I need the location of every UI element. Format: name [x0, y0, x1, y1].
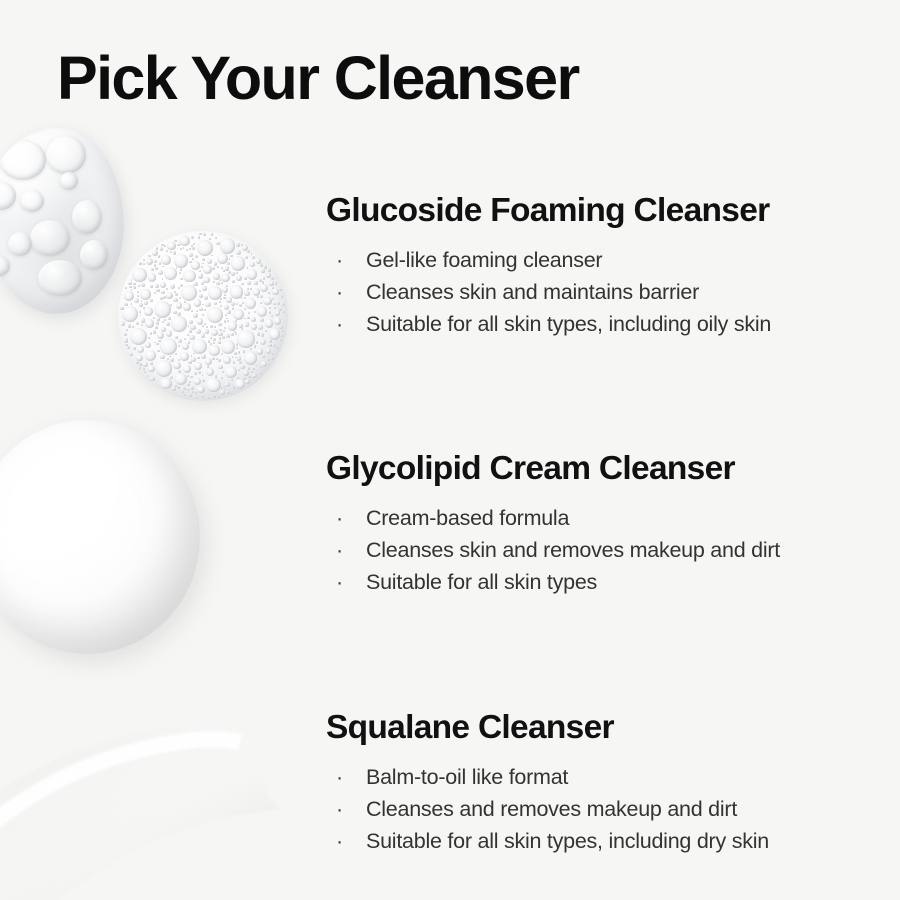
- foam-bubble-icon: [236, 275, 243, 282]
- foam-bubble-icon: [160, 355, 165, 360]
- foam-bubble-icon: [199, 233, 201, 235]
- gel-bubble-icon: [80, 240, 108, 270]
- foam-bubble-icon: [242, 245, 248, 251]
- foam-bubble-icon: [261, 333, 264, 336]
- foam-bubble-icon: [188, 341, 190, 343]
- foam-bubble-icon: [173, 362, 181, 370]
- foam-bubble-icon: [139, 367, 141, 369]
- foam-bubble-icon: [210, 325, 213, 328]
- list-item: · Cream-based formula: [332, 502, 871, 534]
- foam-bubble-icon: [193, 243, 195, 245]
- foam-bubble-icon: [251, 253, 253, 255]
- foam-bubble-icon: [216, 282, 220, 286]
- section-heading: Glycolipid Cream Cleanser: [326, 450, 871, 488]
- foam-bubble-icon: [182, 343, 190, 351]
- foam-bubble-icon: [212, 267, 215, 270]
- foam-bubble-icon: [241, 297, 243, 299]
- foam-bubble-icon: [218, 332, 222, 336]
- foam-bubble-icon: [141, 300, 143, 302]
- bullet-dot-icon: ·: [336, 793, 343, 825]
- balm-texture-swatch: [0, 690, 300, 900]
- foam-bubble-icon: [192, 247, 195, 250]
- foam-bubble-icon: [136, 361, 139, 364]
- foam-bubble-icon: [170, 251, 172, 253]
- foam-bubble-icon: [162, 266, 164, 268]
- foam-bubble-icon: [243, 370, 249, 376]
- foam-bubble-icon: [183, 365, 191, 373]
- foam-bubble-icon: [231, 302, 235, 306]
- foam-bubble-icon: [137, 346, 144, 353]
- foam-bubble-icon: [213, 342, 215, 344]
- foam-bubble-icon: [170, 304, 172, 306]
- foam-bubble-icon: [281, 335, 283, 337]
- foam-bubble-icon: [150, 299, 153, 302]
- foam-bubble-icon: [219, 337, 222, 340]
- foam-bubble-icon: [273, 344, 276, 347]
- foam-bubble-icon: [245, 379, 249, 383]
- foam-bubble-icon: [220, 390, 225, 395]
- foam-bubble-icon: [260, 295, 263, 298]
- foam-bubble-icon: [202, 263, 204, 265]
- foam-bubble-icon: [172, 387, 176, 391]
- foam-bubble-icon: [204, 323, 206, 325]
- foam-bubble-icon: [216, 358, 218, 360]
- foam-bubble-icon: [279, 289, 281, 291]
- foam-bubble-icon: [205, 302, 211, 308]
- foam-bubble-icon: [239, 324, 243, 328]
- foam-bubble-icon: [153, 330, 156, 333]
- foam-bubble-icon: [193, 313, 198, 318]
- foam-bubble-icon: [164, 319, 166, 321]
- foam-bubble-icon: [219, 279, 221, 281]
- foam-bubble-icon: [234, 352, 238, 356]
- foam-bubble-icon: [198, 273, 203, 278]
- foam-bubble-icon: [126, 329, 128, 331]
- foam-bubble-icon: [256, 341, 259, 344]
- foam-bubble-icon: [131, 303, 133, 305]
- foam-bubble-icon: [234, 331, 236, 333]
- foam-bubble-icon: [174, 291, 176, 293]
- foam-bubble-icon: [254, 345, 257, 348]
- foam-bubble-icon: [142, 362, 147, 367]
- foam-bubble-icon: [244, 291, 249, 296]
- foam-bubble-icon: [175, 353, 177, 355]
- foam-bubble-icon: [231, 333, 234, 336]
- foam-bubble-icon: [215, 237, 217, 239]
- foam-bubble-icon: [179, 272, 181, 274]
- foam-bubble-icon: [257, 296, 259, 298]
- cleanser-section: Glycolipid Cream Cleanser · Cream-based …: [326, 450, 871, 598]
- foam-bubble-icon: [252, 373, 257, 378]
- foam-bubble-icon: [238, 351, 240, 353]
- cream-highlight-icon: [17, 464, 89, 531]
- foam-bubble-icon: [231, 272, 235, 276]
- foam-bubble-icon: [191, 245, 193, 247]
- foam-bubble-icon: [187, 334, 190, 337]
- foam-bubble-icon: [197, 318, 204, 325]
- foam-bubble-icon: [148, 255, 151, 258]
- foam-bubble-icon: [213, 395, 216, 398]
- foam-bubble-icon: [256, 365, 258, 367]
- foam-bubble-icon: [121, 321, 126, 326]
- foam-bubble-icon: [252, 368, 255, 371]
- foam-bubble-icon: [139, 311, 141, 313]
- gel-bubble-icon: [46, 136, 86, 174]
- foam-bubble-icon: [261, 361, 267, 367]
- foam-bubble-icon: [199, 294, 203, 298]
- foam-bubble-icon: [202, 286, 206, 290]
- foam-bubble-icon: [128, 282, 131, 285]
- foam-bubble-icon: [189, 253, 193, 257]
- foam-bubble-icon: [184, 338, 186, 340]
- foam-bubble-icon: [232, 356, 234, 358]
- foam-bubble-icon: [124, 303, 128, 307]
- foam-bubble-icon: [120, 307, 123, 310]
- foam-bubble-icon: [264, 265, 267, 268]
- foam-bubble-icon: [148, 366, 154, 372]
- list-item: · Suitable for all skin types, including…: [332, 825, 871, 857]
- foam-bubble-icon: [206, 378, 220, 392]
- foam-bubble-icon: [150, 362, 152, 364]
- foam-bubble-icon: [167, 242, 175, 250]
- foam-bubble-icon: [265, 319, 274, 328]
- foam-bubble-icon: [236, 347, 238, 349]
- foam-bubble-icon: [184, 301, 186, 303]
- foam-bubble-icon: [243, 377, 246, 380]
- foam-bubble-icon: [193, 353, 195, 355]
- foam-bubble-icon: [235, 333, 237, 335]
- cleanser-section: Squalane Cleanser · Balm-to-oil like for…: [326, 709, 871, 857]
- foam-bubble-icon: [131, 289, 133, 291]
- foam-bubble-icon: [218, 365, 223, 370]
- foam-bubble-icon: [201, 266, 203, 268]
- foam-bubble-icon: [156, 289, 159, 292]
- section-heading: Squalane Cleanser: [326, 709, 871, 747]
- foam-bubble-icon: [212, 357, 215, 360]
- foam-bubble-icon: [164, 267, 177, 280]
- foam-bubble-icon: [191, 261, 199, 269]
- foam-bubble-icon: [214, 326, 216, 328]
- foam-bubble-icon: [141, 318, 146, 323]
- foam-bubble-icon: [124, 333, 127, 336]
- foam-bubble-icon: [256, 348, 263, 355]
- foam-bubble-icon: [137, 291, 139, 293]
- foam-bubble-icon: [224, 389, 226, 391]
- foam-bubble-icon: [214, 302, 217, 305]
- foam-bubble-icon: [252, 256, 255, 259]
- foam-bubble-icon: [247, 250, 250, 253]
- foam-bubble-icon: [179, 236, 189, 246]
- foam-bubble-icon: [217, 266, 219, 268]
- bullet-dot-icon: ·: [336, 566, 343, 598]
- foam-bubble-icon: [124, 291, 134, 301]
- foam-bubble-icon: [196, 310, 198, 312]
- foam-bubble-icon: [207, 307, 224, 324]
- foam-bubble-icon: [167, 358, 169, 360]
- foam-bubble-icon: [175, 385, 177, 387]
- foam-bubble-icon: [248, 312, 250, 314]
- foam-bubble-icon: [191, 310, 193, 312]
- foam-bubble-icon: [129, 353, 132, 356]
- gel-bubble-icon: [30, 220, 70, 256]
- foam-bubble-icon: [213, 338, 216, 341]
- foam-bubble-icon: [208, 397, 210, 399]
- foam-bubble-icon: [260, 284, 268, 292]
- foam-bubble-icon: [133, 286, 136, 289]
- foam-bubble-icon: [162, 278, 164, 280]
- foam-bubble-icon: [251, 317, 256, 322]
- foam-bubble-icon: [139, 303, 143, 307]
- foam-bubble-icon: [155, 326, 158, 329]
- foam-bubble-icon: [257, 332, 261, 336]
- foam-bubble-icon: [166, 288, 168, 290]
- foam-bubble-icon: [222, 287, 228, 293]
- foam-bubble-icon: [226, 318, 228, 320]
- foam-bubble-icon: [187, 383, 190, 386]
- foam-bubble-icon: [279, 326, 282, 329]
- foam-bubble-icon: [197, 386, 204, 393]
- foam-bubble-icon: [154, 260, 157, 263]
- foam-bubble-icon: [197, 240, 213, 256]
- foam-bubble-icon: [166, 322, 170, 326]
- foam-bubble-icon: [214, 262, 218, 266]
- gel-bubble-icon: [60, 172, 78, 190]
- feature-list: · Gel-like foaming cleanser · Cleanses s…: [326, 244, 871, 340]
- foam-bubble-icon: [180, 284, 184, 288]
- foam-bubble-icon: [204, 296, 209, 301]
- foam-bubble-icon: [227, 262, 230, 265]
- foam-bubble-icon: [150, 285, 153, 288]
- foam-bubble-icon: [254, 281, 257, 284]
- foam-bubble-icon: [193, 282, 197, 286]
- foam-bubble-icon: [188, 361, 191, 364]
- foam-bubble-icon: [217, 253, 228, 264]
- foam-bubble-icon: [209, 238, 211, 240]
- foam-bubble-icon: [218, 359, 221, 362]
- foam-bubble-icon: [134, 298, 139, 303]
- foam-bubble-icon: [224, 294, 226, 296]
- foam-bubble-icon: [143, 263, 145, 265]
- foam-bubble-icon: [133, 283, 135, 285]
- foam-bubble-icon: [260, 318, 264, 322]
- foam-bubble-icon: [159, 262, 161, 264]
- foam-bubble-icon: [188, 394, 191, 397]
- foam-bubble-icon: [230, 285, 243, 298]
- foam-bubble-icon: [221, 274, 229, 282]
- foam-bubble-icon: [161, 327, 166, 332]
- list-item: · Suitable for all skin types, including…: [332, 308, 871, 340]
- foam-bubble-icon: [221, 282, 224, 285]
- foam-bubble-icon: [143, 307, 145, 309]
- foam-bubble-icon: [220, 238, 235, 253]
- foam-bubble-icon: [225, 366, 237, 378]
- foam-bubble-icon: [225, 266, 229, 270]
- foam-bubble-icon: [273, 303, 276, 306]
- foam-bubble-icon: [194, 362, 202, 370]
- foam-bubble-icon: [209, 345, 220, 356]
- foam-bubble-icon: [192, 258, 194, 260]
- foam-bubble-icon: [144, 301, 148, 305]
- foam-bubble-icon: [124, 338, 128, 342]
- list-item: · Cleanses skin and removes makeup and d…: [332, 534, 871, 566]
- foam-bubble-icon: [261, 269, 264, 272]
- foam-bubble-icon: [204, 309, 206, 311]
- foam-bubble-icon: [145, 342, 151, 348]
- foam-bubble-icon: [241, 328, 243, 330]
- foam-bubble-icon: [136, 322, 139, 325]
- foam-bubble-icon: [221, 340, 235, 354]
- foam-bubble-icon: [154, 301, 171, 318]
- foam-bubble-icon: [244, 277, 247, 280]
- foam-bubble-icon: [175, 293, 178, 296]
- foam-bubble-icon: [268, 364, 270, 366]
- foam-bubble-icon: [160, 247, 164, 251]
- foam-bubble-icon: [170, 284, 175, 289]
- foam-bubble-icon: [130, 328, 147, 345]
- foam-bubble-icon: [274, 317, 282, 325]
- foam-bubble-icon: [244, 308, 246, 310]
- foam-bubble-icon: [188, 325, 190, 327]
- foam-bubble-icon: [247, 317, 249, 319]
- foam-bubble-icon: [265, 330, 267, 332]
- foam-bubble-icon: [175, 373, 187, 385]
- foam-bubble-icon: [136, 355, 143, 362]
- foam-bubble-icon: [170, 376, 173, 379]
- foam-bubble-icon: [254, 311, 256, 313]
- foam-bubble-icon: [207, 259, 212, 264]
- foam-bubble-icon: [211, 233, 214, 236]
- gel-bubble-icon: [0, 182, 16, 210]
- foam-bubble-icon: [251, 324, 257, 330]
- gel-texture-swatch: [0, 128, 124, 314]
- list-item-label: Suitable for all skin types, including d…: [366, 829, 769, 853]
- foam-bubble-icon: [198, 236, 201, 239]
- foam-bubble-icon: [260, 367, 262, 369]
- foam-bubble-icon: [220, 305, 222, 307]
- foam-bubble-icon: [223, 386, 225, 388]
- cleanser-section: Glucoside Foaming Cleanser · Gel-like fo…: [326, 192, 871, 340]
- foam-bubble-icon: [230, 255, 232, 257]
- list-item-label: Cleanses skin and maintains barrier: [366, 280, 699, 304]
- foam-bubble-icon: [247, 269, 257, 279]
- foam-bubble-icon: [247, 267, 249, 269]
- bullet-dot-icon: ·: [336, 276, 343, 308]
- foam-bubble-icon: [262, 355, 265, 358]
- foam-bubble-icon: [160, 338, 177, 355]
- foam-bubble-icon: [148, 273, 156, 281]
- foam-bubble-icon: [195, 255, 198, 258]
- foam-bubble-icon: [243, 350, 245, 352]
- foam-bubble-icon: [283, 311, 285, 313]
- foam-bubble-icon: [187, 389, 189, 391]
- foam-bubble-icon: [245, 298, 256, 309]
- foam-bubble-icon: [221, 353, 223, 355]
- foam-bubble-icon: [258, 325, 263, 330]
- foam-bubble-icon: [206, 368, 214, 376]
- foam-bubble-icon: [198, 371, 201, 374]
- foam-bubble-icon: [177, 244, 179, 246]
- bullet-dot-icon: ·: [336, 534, 343, 566]
- feature-list: · Cream-based formula · Cleanses skin an…: [326, 502, 871, 598]
- foam-bubble-icon: [180, 352, 189, 361]
- foam-bubble-icon: [227, 310, 231, 314]
- foam-bubble-icon: [180, 268, 183, 271]
- foam-bubble-icon: [179, 297, 182, 300]
- foam-bubble-icon: [229, 258, 231, 260]
- foam-bubble-icon: [202, 304, 204, 306]
- foam-bubble-icon: [138, 285, 140, 287]
- foam-bubble-icon: [216, 242, 219, 245]
- foam-bubble-icon: [154, 292, 156, 294]
- gel-bubble-icon: [8, 232, 32, 256]
- foam-bubble-icon: [133, 347, 136, 350]
- bullet-dot-icon: ·: [336, 308, 343, 340]
- foam-bubble-icon: [177, 312, 181, 316]
- foam-bubble-icon: [220, 298, 222, 300]
- foam-bubble-icon: [190, 376, 192, 378]
- foam-bubble-icon: [157, 350, 159, 352]
- foam-bubble-icon: [174, 240, 177, 243]
- foam-bubble-icon: [202, 374, 204, 376]
- foam-bubble-icon: [210, 337, 212, 339]
- foam-bubble-icon: [141, 324, 143, 326]
- foam-bubble-icon: [239, 304, 242, 307]
- foam-bubble-icon: [176, 267, 178, 269]
- foam-bubble-icon: [275, 310, 280, 315]
- foam-bubble-icon: [224, 320, 227, 323]
- foam-bubble-icon: [231, 379, 233, 381]
- foam-bubble-icon: [196, 397, 198, 399]
- foam-bubble-icon: [194, 378, 201, 385]
- foam-bubble-icon: [150, 377, 155, 382]
- foam-bubble-icon: [248, 367, 250, 369]
- foam-bubble-icon: [221, 267, 224, 270]
- foam-bubble-icon: [160, 297, 162, 299]
- foam-bubble-icon: [155, 284, 159, 288]
- foam-bubble-icon: [203, 277, 209, 283]
- list-item-label: Suitable for all skin types, including o…: [366, 312, 771, 336]
- foam-bubble-icon: [181, 285, 197, 301]
- foam-bubble-icon: [140, 289, 151, 300]
- foam-bubble-icon: [233, 386, 235, 388]
- foam-bubble-icon: [219, 301, 221, 303]
- list-item-label: Balm-to-oil like format: [366, 765, 568, 789]
- foam-bubble-icon: [206, 326, 208, 328]
- foam-bubble-icon: [150, 332, 152, 334]
- foam-bubble-icon: [203, 265, 211, 273]
- foam-bubble-icon: [208, 340, 211, 343]
- foam-bubble-icon: [235, 357, 237, 359]
- foam-bubble-icon: [189, 330, 192, 333]
- foam-bubble-icon: [189, 335, 194, 340]
- foam-bubble-icon: [245, 322, 250, 327]
- foam-bubble-icon: [222, 336, 224, 338]
- foam-bubble-icon: [173, 298, 178, 303]
- foam-bubble-icon: [202, 379, 205, 382]
- foam-bubble-icon: [164, 245, 166, 247]
- foam-bubble-icon: [226, 285, 228, 287]
- foam-bubble-icon: [144, 307, 153, 316]
- list-item-label: Cleanses and removes makeup and dirt: [366, 797, 737, 821]
- foam-bubble-icon: [184, 394, 186, 396]
- foam-bubble-icon: [194, 372, 197, 375]
- foam-bubble-icon: [251, 371, 253, 373]
- foam-bubble-icon: [191, 236, 195, 240]
- list-item: · Suitable for all skin types: [332, 566, 871, 598]
- foam-bubble-icon: [201, 333, 206, 338]
- foam-bubble-icon: [158, 340, 160, 342]
- foam-bubble-icon: [202, 325, 204, 327]
